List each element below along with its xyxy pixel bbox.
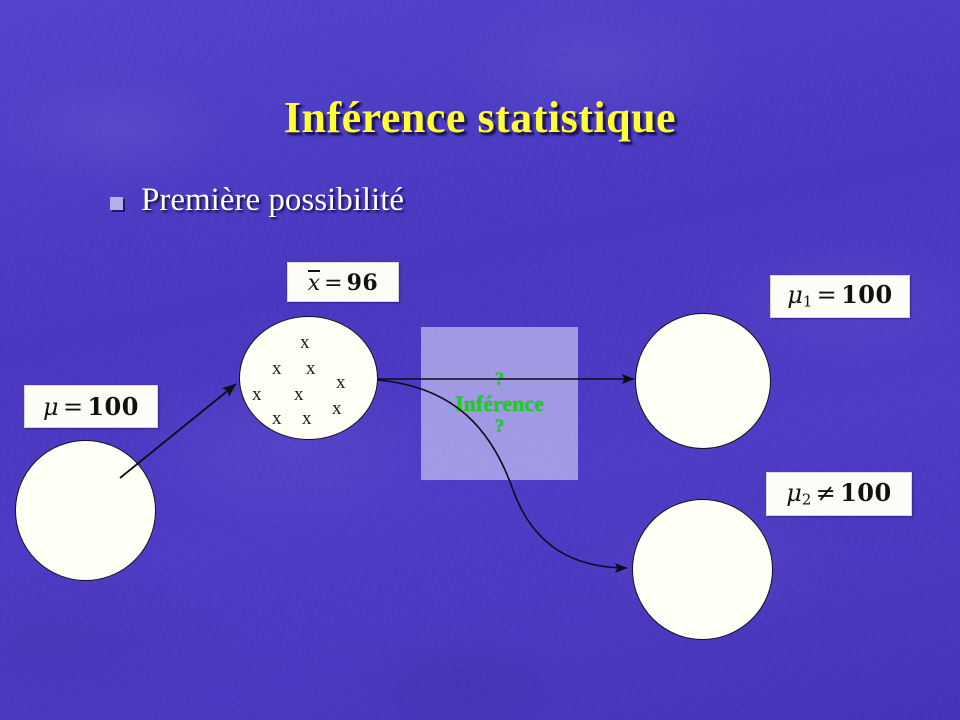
population-circle xyxy=(15,440,156,581)
equals-operator: = xyxy=(324,271,342,296)
not-equals-operator: ≠ xyxy=(816,479,836,507)
hypothesis-1-value: 100 xyxy=(841,280,893,309)
sample-point: x xyxy=(302,409,312,428)
equals-operator: = xyxy=(63,393,83,421)
mu-symbol: μ xyxy=(43,393,59,421)
sample-point: x xyxy=(294,385,304,404)
sample-point: x xyxy=(252,385,262,404)
sample-statistic-value: 96 xyxy=(347,270,379,296)
mu-subscript: 2 xyxy=(802,490,811,508)
inference-box: ? Inférence ? xyxy=(421,327,578,480)
sample-point: x xyxy=(272,409,282,428)
sample-statistic-box: x=96 xyxy=(287,262,399,302)
equals-operator: = xyxy=(817,281,837,309)
hypothesis-1-box: μ1=100 xyxy=(770,275,910,318)
population-parameter-value: 100 xyxy=(87,392,139,421)
mu-subscript: 1 xyxy=(803,293,812,311)
hypothesis-1-text: μ1=100 xyxy=(787,283,892,309)
bullet-item-label: Première possibilité xyxy=(141,182,404,219)
sample-point: x xyxy=(306,359,316,378)
sample-point: x xyxy=(332,399,342,418)
population-parameter-text: μ=100 xyxy=(43,395,139,419)
slide-canvas: Inférence statistique Première possibili… xyxy=(0,0,960,720)
hypothesis-2-box: μ2≠100 xyxy=(766,472,912,516)
inference-question-top: ? xyxy=(495,370,505,390)
page-title: Inférence statistique xyxy=(0,92,960,143)
inference-question-bottom: ? xyxy=(495,417,505,437)
sample-point: x xyxy=(272,359,282,378)
bullet-item: Première possibilité xyxy=(110,182,404,219)
hypothesis-2-text: μ2≠100 xyxy=(786,481,891,507)
x-bar-symbol: x xyxy=(308,270,320,295)
population-parameter-box: μ=100 xyxy=(24,385,158,428)
hypothesis-1-circle xyxy=(635,313,771,449)
sample-statistic-text: x=96 xyxy=(308,270,378,295)
mu-symbol: μ xyxy=(786,479,802,507)
sample-circle: x x x x x x x x x xyxy=(239,316,378,440)
square-bullet-icon xyxy=(110,197,123,210)
hypothesis-2-value: 100 xyxy=(840,478,892,507)
hypothesis-2-circle xyxy=(632,499,773,640)
inference-label: Inférence xyxy=(455,392,544,415)
mu-symbol: μ xyxy=(787,281,803,309)
sample-point: x xyxy=(336,373,346,392)
sample-point: x xyxy=(300,333,310,352)
